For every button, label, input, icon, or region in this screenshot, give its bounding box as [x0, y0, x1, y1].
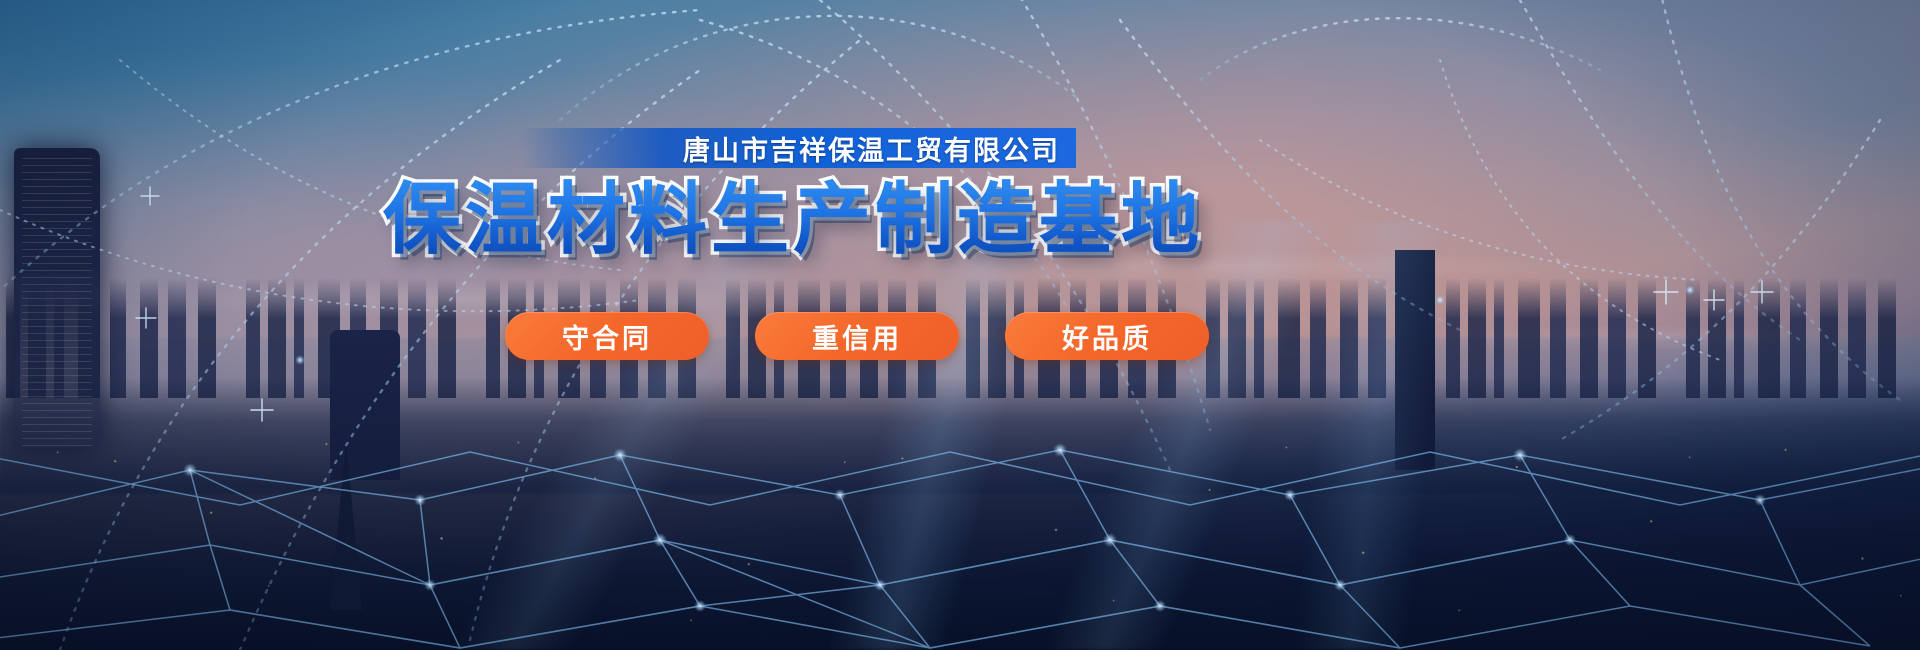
headline-fill: 保温材料生产制造基地 [383, 176, 1203, 263]
slogan-pill-3[interactable]: 好品质 [1005, 312, 1209, 360]
headline-outline: 保温材料生产制造基地保温材料生产制造基地 [383, 176, 1193, 263]
slogan-pill-2[interactable]: 重信用 [755, 312, 959, 360]
slogan-pill-1-label: 守合同 [562, 317, 652, 356]
slogan-pill-1[interactable]: 守合同 [505, 312, 709, 360]
hero-banner: 唐山市吉祥保温工贸有限公司 保温材料生产制造基地保温材料生产制造基地 守合同 重… [0, 0, 1920, 650]
slogan-pill-group: 守合同 重信用 好品质 [505, 312, 1209, 360]
slogan-pill-3-label: 好品质 [1062, 317, 1152, 356]
slogan-pill-2-label: 重信用 [812, 317, 902, 356]
company-name-text: 唐山市吉祥保温工贸有限公司 [683, 129, 1076, 168]
company-name-bar: 唐山市吉祥保温工贸有限公司 [520, 128, 1076, 168]
